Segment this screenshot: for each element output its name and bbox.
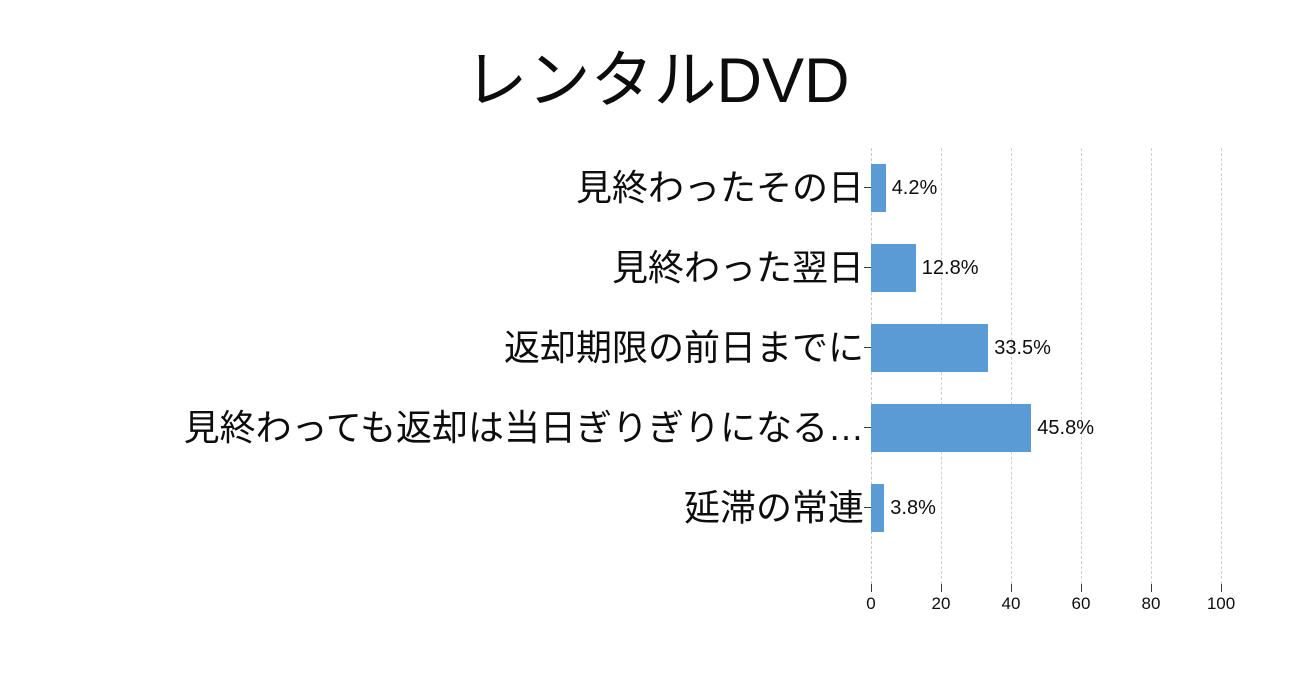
y-tick-mark: [864, 187, 871, 188]
plot-area: 見終わったその日4.2%見終わった翌日12.8%返却期限の前日までに33.5%見…: [871, 148, 1221, 584]
bar[interactable]: [871, 404, 1031, 452]
category-label: 延滞の常連: [684, 468, 864, 548]
x-tick-label-60: 60: [1072, 594, 1091, 614]
bar-row: 見終わった翌日12.8%: [871, 228, 1221, 308]
x-tick-mark-0: [871, 584, 872, 592]
y-tick-mark: [864, 267, 871, 268]
bar-row: 見終わったその日4.2%: [871, 148, 1221, 228]
bar-chart-figure: レンタルDVD 見終わったその日4.2%見終わった翌日12.8%返却期限の前日ま…: [0, 0, 1306, 683]
category-label: 見終わった翌日: [612, 228, 864, 308]
x-tick-mark-100: [1221, 584, 1222, 592]
gridline-100: [1221, 148, 1222, 584]
y-tick-mark: [864, 347, 871, 348]
x-tick-mark-60: [1081, 584, 1082, 592]
bar[interactable]: [871, 164, 886, 212]
chart-title-text: レンタルDVD: [464, 47, 849, 115]
x-tick-label-100: 100: [1207, 594, 1235, 614]
x-tick-label-0: 0: [866, 594, 875, 614]
x-tick-mark-40: [1011, 584, 1012, 592]
bar-row: 見終わっても返却は当日ぎりぎりになる…45.8%: [871, 388, 1221, 468]
x-tick-label-80: 80: [1142, 594, 1161, 614]
x-tick-mark-80: [1151, 584, 1152, 592]
bar[interactable]: [871, 244, 916, 292]
category-label: 見終わったその日: [576, 148, 864, 228]
bar[interactable]: [871, 324, 988, 372]
category-label: 見終わっても返却は当日ぎりぎりになる…: [184, 388, 864, 468]
x-axis: 020406080100: [871, 584, 1221, 624]
x-tick-mark-20: [941, 584, 942, 592]
bar-row: 返却期限の前日までに33.5%: [871, 308, 1221, 388]
value-label: 12.8%: [922, 228, 979, 308]
value-label: 45.8%: [1037, 388, 1094, 468]
y-tick-mark: [864, 507, 871, 508]
x-tick-label-20: 20: [932, 594, 951, 614]
chart-title: レンタルDVD: [0, 47, 1306, 115]
y-tick-mark: [864, 427, 871, 428]
value-label: 33.5%: [994, 308, 1051, 388]
category-label: 返却期限の前日までに: [504, 308, 864, 388]
value-label: 3.8%: [890, 468, 936, 548]
value-label: 4.2%: [892, 148, 938, 228]
bar-row: 延滞の常連3.8%: [871, 468, 1221, 548]
bar[interactable]: [871, 484, 884, 532]
x-tick-label-40: 40: [1002, 594, 1021, 614]
